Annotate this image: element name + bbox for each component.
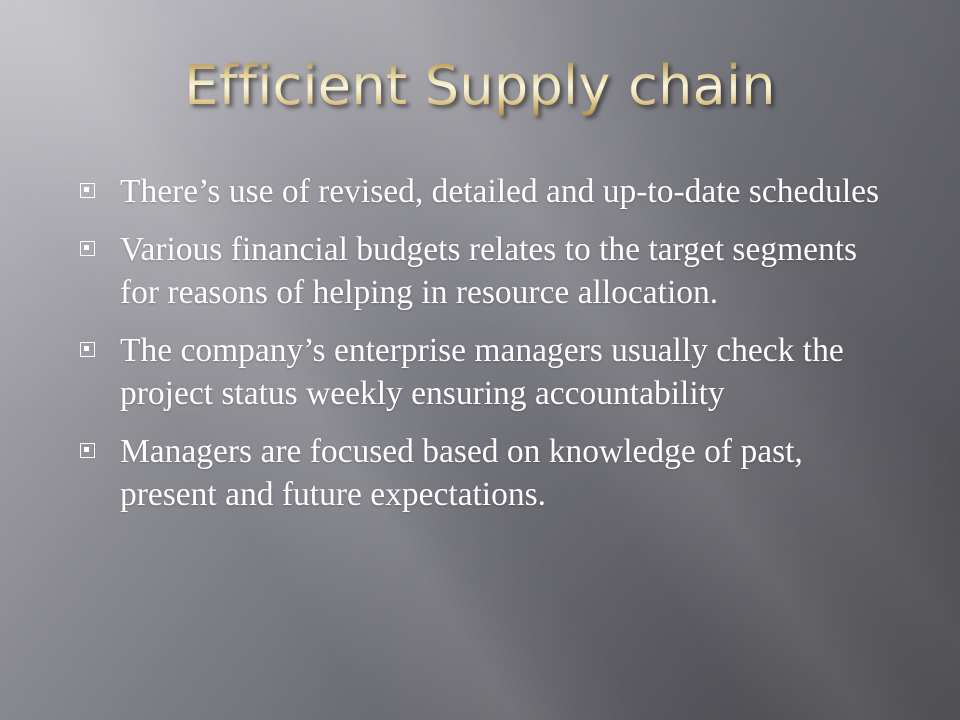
slide-content: Efficient Supply chain There’s use of re… (0, 0, 960, 720)
bullet-list: There’s use of revised, detailed and up-… (74, 170, 904, 517)
list-item: The company’s enterprise managers usuall… (74, 329, 904, 416)
presentation-slide: Efficient Supply chain There’s use of re… (0, 0, 960, 720)
title-block: Efficient Supply chain (0, 20, 960, 153)
list-item: Managers are focused based on knowledge … (74, 430, 904, 517)
square-in-square-bullet-icon (80, 183, 95, 198)
list-item-text: The company’s enterprise managers usuall… (120, 329, 904, 416)
square-in-square-bullet-icon (80, 241, 95, 256)
square-in-square-bullet-icon (80, 342, 95, 357)
list-item-text: There’s use of revised, detailed and up-… (120, 170, 904, 214)
list-item: Various financial budgets relates to the… (74, 228, 904, 315)
square-in-square-bullet-icon (80, 443, 95, 458)
slide-title: Efficient Supply chain (184, 56, 776, 116)
list-item-text: Managers are focused based on knowledge … (120, 430, 904, 517)
list-item: There’s use of revised, detailed and up-… (74, 170, 904, 214)
list-item-text: Various financial budgets relates to the… (120, 228, 904, 315)
